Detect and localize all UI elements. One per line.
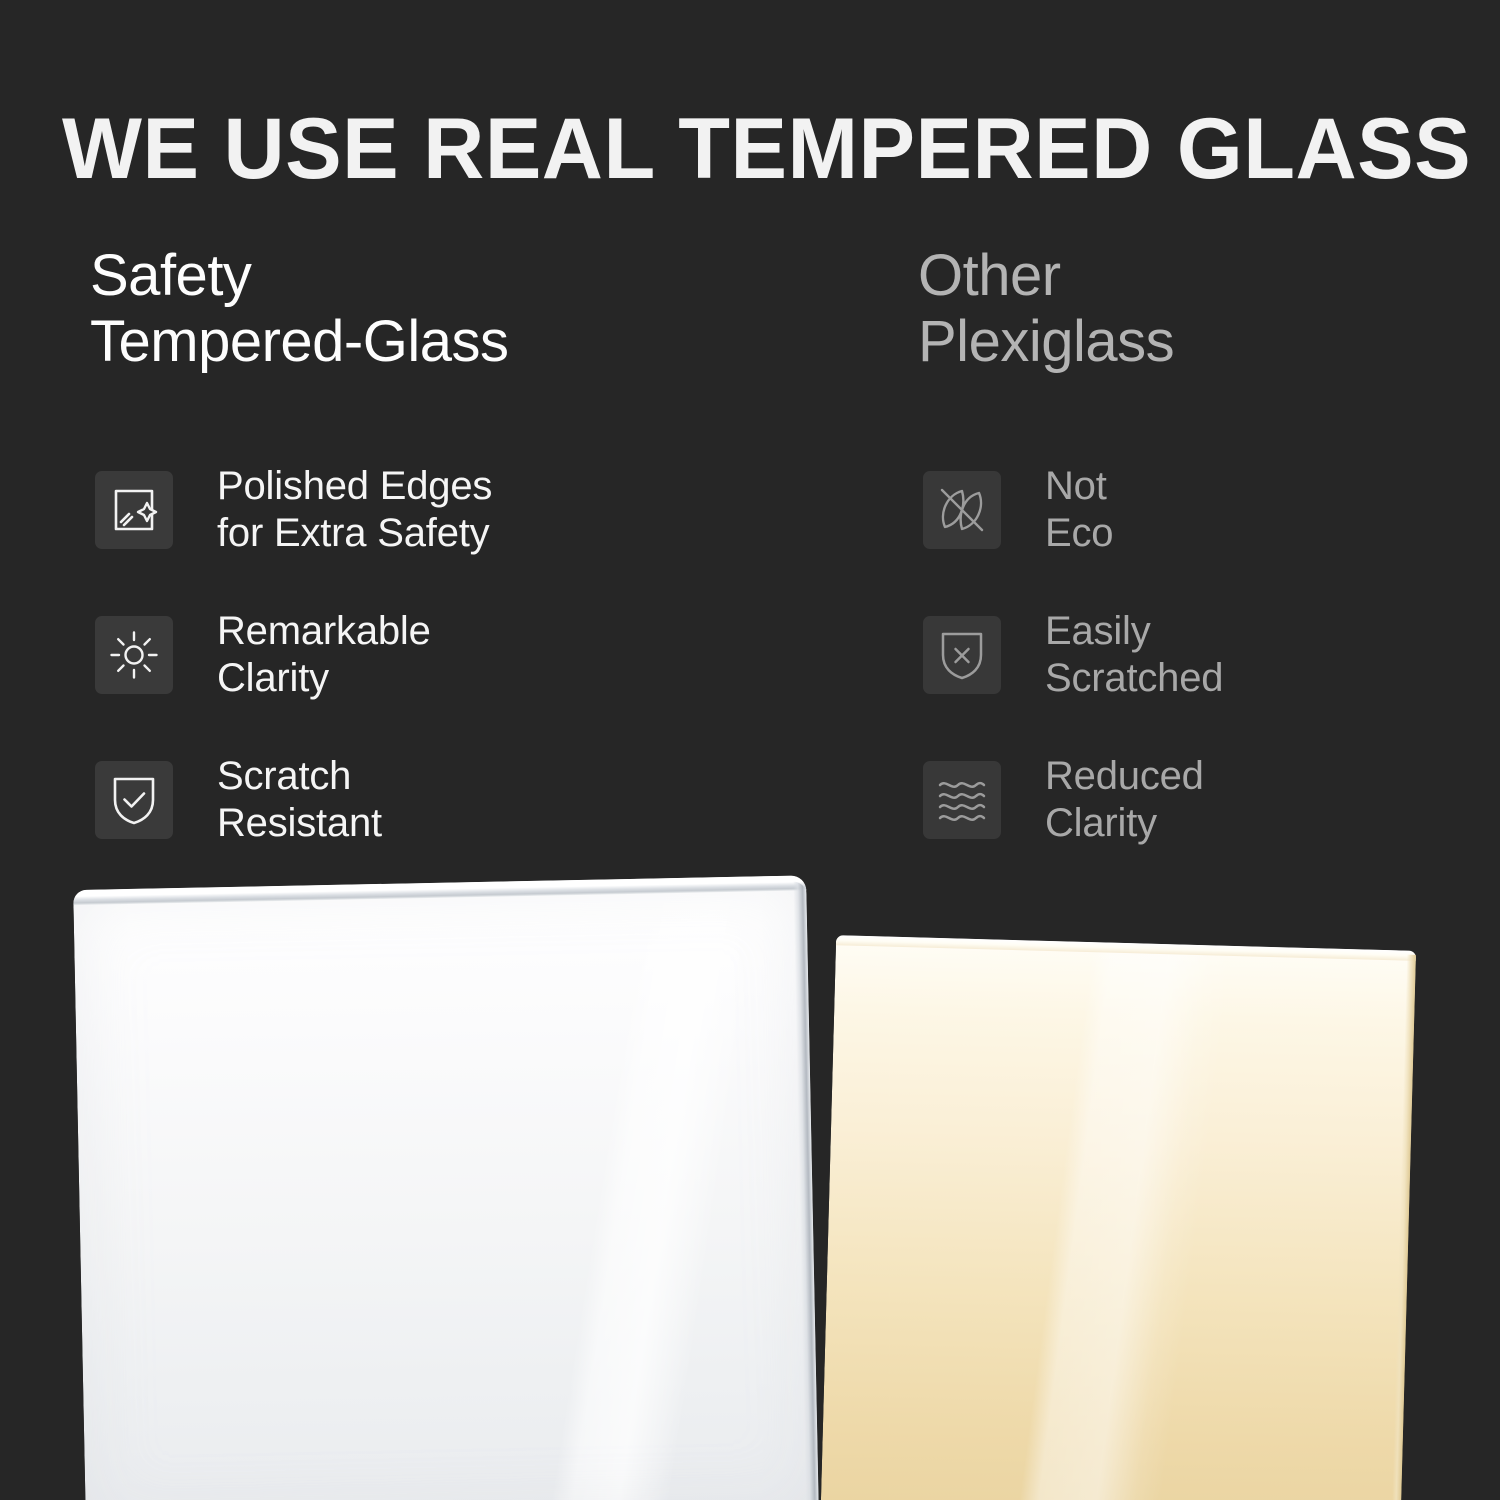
shield-check-icon xyxy=(95,761,173,839)
feature-label-remarkable-clarity: Remarkable Clarity xyxy=(217,608,431,702)
column-heading-tempered-glass: Safety Tempered-Glass xyxy=(90,243,810,375)
promo-graphic: WE USE REAL TEMPERED GLASS Safety Temper… xyxy=(0,0,1500,1500)
comparison-column-tempered-glass: Safety Tempered-Glass Polished Edges for… xyxy=(90,243,810,375)
feature-label-scratch-resistant: Scratch Resistant xyxy=(217,753,382,847)
product-panel-comparison-photo xyxy=(0,860,1500,1500)
feature-label-easily-scratched: Easily Scratched xyxy=(1045,608,1223,702)
polished-glass-sparkle-icon xyxy=(95,471,173,549)
tempered-glass-panel xyxy=(73,875,819,1500)
feature-label-reduced-clarity: Reduced Clarity xyxy=(1045,753,1204,847)
feature-easily-scratched: Easily Scratched xyxy=(918,616,1458,761)
column-heading-plexiglass: Other Plexiglass xyxy=(918,243,1458,375)
shield-x-icon xyxy=(923,616,1001,694)
feature-remarkable-clarity: Remarkable Clarity xyxy=(90,616,810,761)
feature-label-not-eco: Not Eco xyxy=(1045,463,1113,557)
yellowed-plexiglass-panel xyxy=(820,935,1416,1500)
page-title: WE USE REAL TEMPERED GLASS xyxy=(62,94,1441,204)
leaf-crossed-out-icon xyxy=(923,471,1001,549)
feature-label-polished-edges: Polished Edges for Extra Safety xyxy=(217,463,492,557)
feature-list-plexiglass: Not Eco Easily Scratched xyxy=(918,471,1458,906)
feature-polished-edges: Polished Edges for Extra Safety xyxy=(90,471,810,616)
feature-list-tempered-glass: Polished Edges for Extra Safety xyxy=(90,471,810,906)
sun-brightness-icon xyxy=(95,616,173,694)
comparison-column-plexiglass: Other Plexiglass Not Eco xyxy=(918,243,1458,375)
wavy-lines-distortion-icon xyxy=(923,761,1001,839)
feature-not-eco: Not Eco xyxy=(918,471,1458,616)
